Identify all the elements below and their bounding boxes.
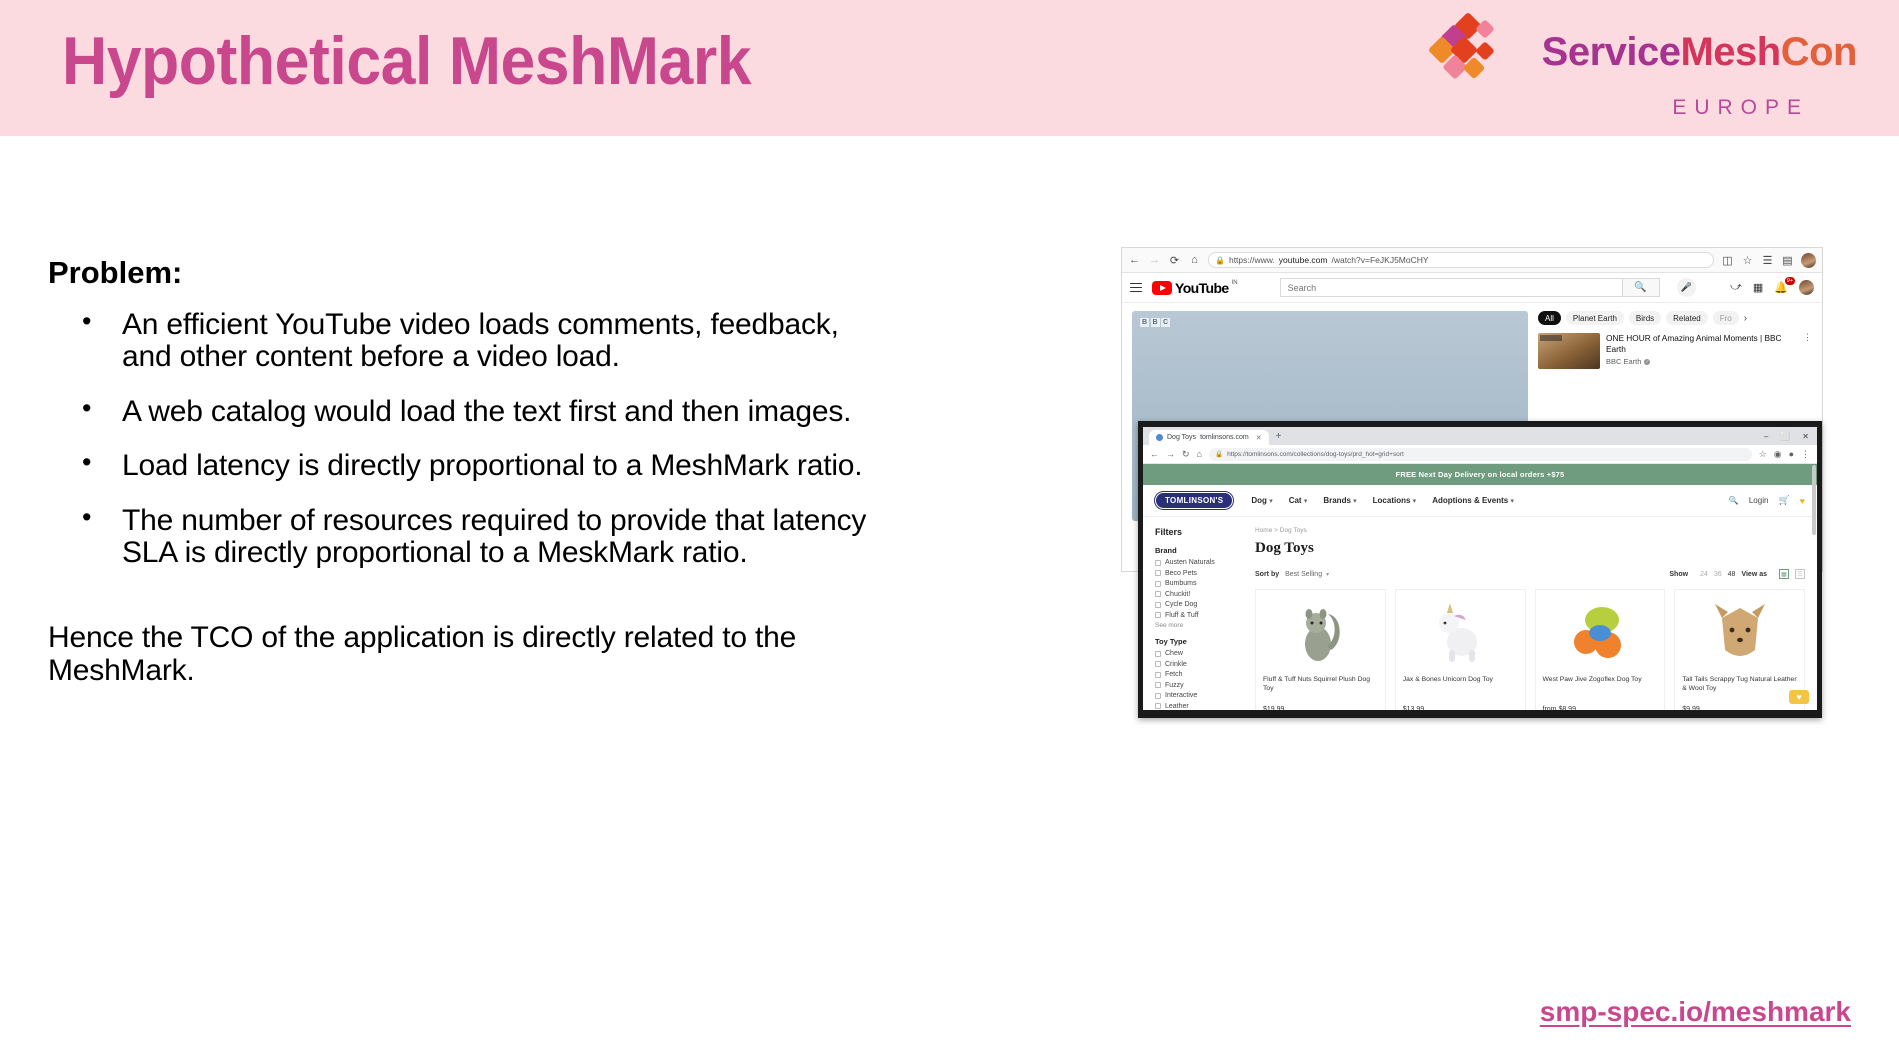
product-card[interactable]: Fluff & Tuff Nuts Squirrel Plush Dog Toy… [1255,589,1386,710]
video-overflow-menu-icon[interactable]: ⋮ [1803,333,1812,369]
minimize-button[interactable]: – [1764,432,1768,441]
tab-title: Dog Toys [1167,434,1196,441]
apps-grid-icon[interactable]: ▦ [1753,281,1763,294]
checkbox-icon[interactable] [1155,661,1161,667]
address-bar[interactable]: 🔒 https://www.youtube.com/watch?v=FeJKJ5… [1208,252,1714,268]
video-meta: ONE HOUR of Amazing Animal Moments | BBC… [1606,333,1797,369]
account-avatar[interactable] [1799,280,1814,295]
search-input[interactable] [1280,278,1622,297]
bullet-item-1: An efficient YouTube video loads comment… [74,309,888,374]
youtube-country-code: IN [1232,280,1238,286]
product-price: $13.99 [1403,706,1518,710]
tab-favicon-icon [1156,434,1163,441]
search-button[interactable]: 🔍 [1622,278,1660,297]
create-video-icon[interactable]: ⤻ [1730,281,1742,294]
chip-planet-earth[interactable]: Planet Earth [1566,311,1624,325]
forward-arrow-icon[interactable]: → [1166,449,1175,459]
filter-option[interactable]: Fluff & Tuff [1155,612,1241,619]
product-name: West Paw Jive Zogoflex Dog Toy [1543,675,1658,701]
youtube-logo[interactable]: YouTube IN [1152,281,1238,295]
chat-widget-icon[interactable]: ♥ [1789,690,1809,704]
promo-banner: FREE Next Day Delivery on local orders +… [1143,464,1817,485]
catalog-content: Home > Dog Toys Dog Toys Sort by Best Se… [1255,527,1805,710]
product-name: Fluff & Tuff Nuts Squirrel Plush Dog Toy [1263,675,1378,701]
split-screen-icon[interactable]: ◫ [1721,254,1734,267]
chevron-down-icon[interactable]: ▾ [1326,571,1329,578]
filter-chip-row: All Planet Earth Birds Related Fro › [1538,311,1812,325]
checkbox-icon[interactable] [1155,612,1161,618]
favorites-add-icon[interactable]: ☆ [1741,254,1754,267]
filter-option[interactable]: Austen Naturals [1155,559,1241,566]
bbc-watermark-icon: BBC [1140,318,1170,327]
wishlist-heart-icon[interactable]: ♥ [1800,496,1805,506]
url-domain: youtube.com [1279,255,1328,265]
chrome-menu-icon[interactable]: ⋮ [1801,449,1810,460]
product-name: Tall Tails Scrappy Tug Natural Leather &… [1682,675,1797,701]
brand-see-more-link[interactable]: See more [1155,622,1241,629]
home-icon[interactable]: ⌂ [1188,254,1201,267]
checkbox-icon[interactable] [1155,703,1161,709]
back-arrow-icon[interactable]: ← [1150,449,1159,459]
list-view-icon[interactable]: ☰ [1795,569,1805,579]
checkbox-icon[interactable] [1155,570,1161,576]
channel-name: BBC Earth [1606,357,1641,366]
breadcrumb[interactable]: Home > Dog Toys [1255,527,1805,534]
browser-chrome-bar: ← → ⟳ ⌂ 🔒 https://www.youtube.com/watch?… [1122,248,1822,273]
close-window-button[interactable]: ✕ [1802,432,1809,441]
product-image [1682,596,1797,668]
view-controls: Show 24 36 48 View as ▦ ☰ [1669,569,1805,579]
filter-option[interactable]: Bumbums [1155,580,1241,587]
notifications-bell-icon[interactable]: 🔔9+ [1774,281,1788,294]
site-navigation: TOMLINSON'S Dog ▾ Cat ▾ Brands ▾ Locatio… [1143,485,1817,517]
tomlinsons-browser-screenshot: Dog Toys tomlinsons.com ✕ + – ⬜ ✕ ← → ↻ … [1138,421,1822,718]
youtube-search-group[interactable]: 🔍 [1280,278,1660,297]
problem-heading: Problem: [48,255,888,291]
masthead-actions: ⤻ ▦ 🔔9+ [1730,280,1814,295]
product-price: from $8.99 [1543,706,1658,710]
url-text: https://tomlinsons.com/collections/dog-t… [1227,451,1404,458]
extensions-icon[interactable]: ▤ [1781,254,1794,267]
profile-avatar[interactable] [1801,253,1816,268]
extension-icon[interactable]: ◉ [1774,449,1782,460]
chip-next-arrow-icon[interactable]: › [1744,313,1747,324]
recommended-video-item[interactable]: ONE HOUR of Amazing Animal Moments | BBC… [1538,333,1812,369]
logo-word-con: Con [1781,30,1857,74]
tomlinsons-logo[interactable]: TOMLINSON'S [1155,492,1233,509]
scrappy-tug-toy-icon [1711,600,1769,664]
product-grid: Fluff & Tuff Nuts Squirrel Plush Dog Toy… [1255,589,1805,710]
logo-wordmark: ServiceMeshCon [1542,30,1857,75]
filter-option[interactable]: Fuzzy [1155,682,1241,689]
checkbox-icon[interactable] [1155,591,1161,597]
tab-close-icon[interactable]: ✕ [1256,434,1262,442]
home-icon[interactable]: ⌂ [1197,449,1202,459]
forward-arrow-icon[interactable]: → [1148,254,1161,267]
nav-item-dog[interactable]: Dog ▾ [1251,496,1272,505]
address-bar[interactable]: 🔒 https://tomlinsons.com/collections/dog… [1209,448,1752,461]
product-image [1543,596,1658,668]
cart-icon[interactable]: 🛒 [1778,495,1789,506]
catalog-title: Dog Toys [1255,540,1805,557]
closing-paragraph: Hence the TCO of the application is dire… [48,621,808,687]
page-title: Hypothetical MeshMark [62,22,751,100]
filter-option[interactable]: Crinkle [1155,661,1241,668]
new-tab-button[interactable]: + [1272,431,1286,442]
lock-icon: 🔒 [1215,256,1225,265]
product-card[interactable]: West Paw Jive Zogoflex Dog Toy from $8.9… [1535,589,1666,710]
sort-value[interactable]: Best Selling [1285,571,1322,578]
checkbox-icon[interactable] [1155,682,1161,688]
nav-item-locations[interactable]: Locations ▾ [1373,496,1417,505]
site-search-icon[interactable]: 🔍 [1729,496,1739,505]
lock-icon: 🔒 [1215,450,1223,458]
page-scrollbar[interactable] [1812,465,1816,665]
youtube-masthead: YouTube IN 🔍 🎤 ⤻ ▦ 🔔9+ [1122,273,1822,303]
youtube-play-icon [1152,281,1172,295]
video-thumbnail[interactable] [1538,333,1600,369]
grid-view-icon[interactable]: ▦ [1779,569,1789,579]
bookmark-star-icon[interactable]: ☆ [1759,449,1767,460]
product-name: Jax & Bones Unicorn Dog Toy [1403,675,1518,701]
show-option-24[interactable]: 24 [1700,571,1708,578]
filter-option[interactable]: Cycle Dog [1155,601,1241,608]
show-option-36[interactable]: 36 [1714,571,1722,578]
back-arrow-icon[interactable]: ← [1128,254,1141,267]
sort-label: Sort by [1255,571,1279,578]
checkbox-icon[interactable] [1155,560,1161,566]
hamburger-menu-icon[interactable] [1130,283,1142,292]
squirrel-plush-icon [1294,600,1346,664]
reload-icon[interactable]: ↻ [1182,449,1190,460]
voice-search-icon[interactable]: 🎤 [1677,278,1696,297]
filter-option[interactable]: Chew [1155,650,1241,657]
logo-subtitle: EUROPE [1672,96,1809,120]
checkbox-icon[interactable] [1155,581,1161,587]
filter-option[interactable]: Interactive [1155,692,1241,699]
show-option-48[interactable]: 48 [1728,571,1736,578]
product-card[interactable]: Tall Tails Scrappy Tug Natural Leather &… [1674,589,1805,710]
verified-badge-icon: ✓ [1644,359,1650,365]
browser-viewport: Dog Toys tomlinsons.com ✕ + – ⬜ ✕ ← → ↻ … [1143,427,1817,710]
chip-related[interactable]: Related [1666,311,1708,325]
window-controls: – ⬜ ✕ [1764,432,1817,441]
nav-item-cat[interactable]: Cat ▾ [1289,496,1308,505]
zogoflex-bone-toy-icon [1570,600,1630,664]
logo-word-service: Service [1542,30,1681,74]
chip-birds[interactable]: Birds [1629,311,1661,325]
filter-group-brand-heading: Brand [1155,546,1241,555]
product-price: $19.99 [1263,706,1378,710]
filter-option[interactable]: Chuckit! [1155,591,1241,598]
filters-heading: Filters [1155,527,1241,537]
bullet-item-2: A web catalog would load the text first … [74,396,888,428]
notification-badge: 9+ [1785,277,1795,285]
product-image [1403,596,1518,668]
content-column: Problem: An efficient YouTube video load… [48,255,888,687]
product-card[interactable]: Jax & Bones Unicorn Dog Toy $13.99 ☆☆☆☆☆ [1395,589,1526,710]
filter-option[interactable]: Fetch [1155,671,1241,678]
bullet-list: An efficient YouTube video loads comment… [74,309,888,569]
youtube-wordmark: YouTube [1175,281,1229,295]
product-image [1263,596,1378,668]
catalog-toolbar: Sort by Best Selling ▾ Show 24 36 48 Vie… [1255,569,1805,579]
checkbox-icon[interactable] [1155,693,1161,699]
logo-word-mesh: Mesh [1680,30,1780,74]
url-path: /watch?v=FeJKJ5MoCHY [1331,255,1428,265]
chip-all[interactable]: All [1538,311,1561,325]
filter-option[interactable]: Beco Pets [1155,570,1241,577]
filters-sidebar: Filters Brand Austen Naturals Beco Pets … [1155,527,1241,710]
chip-from[interactable]: Fro [1713,311,1739,325]
nav-actions: 🔍 Login 🛒 ♥ [1729,495,1805,506]
nav-item-brands[interactable]: Brands ▾ [1323,496,1356,505]
url-scheme: https://www. [1229,255,1275,265]
browser-tab[interactable]: Dog Toys tomlinsons.com ✕ [1149,430,1269,445]
video-channel: BBC Earth ✓ [1606,357,1797,366]
chrome-toolbar: ← → ↻ ⌂ 🔒 https://tomlinsons.com/collect… [1143,445,1817,464]
bullet-item-3: Load latency is directly proportional to… [74,450,888,482]
tab-subtitle: tomlinsons.com [1200,434,1249,441]
unicorn-plush-icon [1432,600,1488,664]
bullet-item-4: The number of resources required to prov… [74,505,888,570]
servicemeshcon-logo: ServiceMeshCon EUROPE [1432,14,1857,120]
reload-icon[interactable]: ⟳ [1168,254,1181,267]
video-title[interactable]: ONE HOUR of Amazing Animal Moments | BBC… [1606,333,1797,354]
collections-icon[interactable]: ☰ [1761,254,1774,267]
checkbox-icon[interactable] [1155,672,1161,678]
meshmark-spec-link[interactable]: smp-spec.io/meshmark [1540,996,1851,1028]
slide-root: Hypothetical MeshMark ServiceMeshCon EUR… [0,0,1899,1060]
browser-tab-strip: Dog Toys tomlinsons.com ✕ + – ⬜ ✕ [1143,427,1817,445]
login-link[interactable]: Login [1749,496,1769,505]
product-price: $9.99 [1682,706,1797,710]
filter-option[interactable]: Leather [1155,703,1241,710]
profile-avatar[interactable]: ● [1789,449,1794,459]
show-label: Show [1669,571,1688,578]
checkbox-icon[interactable] [1155,602,1161,608]
maximize-button[interactable]: ⬜ [1780,432,1790,441]
catalog-body: Filters Brand Austen Naturals Beco Pets … [1143,517,1817,710]
view-as-label: View as [1741,571,1767,578]
logo-diamond-mark-icon [1432,14,1528,90]
nav-item-adoptions[interactable]: Adoptions & Events ▾ [1432,496,1514,505]
filter-group-toytype-heading: Toy Type [1155,637,1241,646]
checkbox-icon[interactable] [1155,651,1161,657]
nav-links: Dog ▾ Cat ▾ Brands ▾ Locations ▾ Adoptio… [1251,496,1514,505]
